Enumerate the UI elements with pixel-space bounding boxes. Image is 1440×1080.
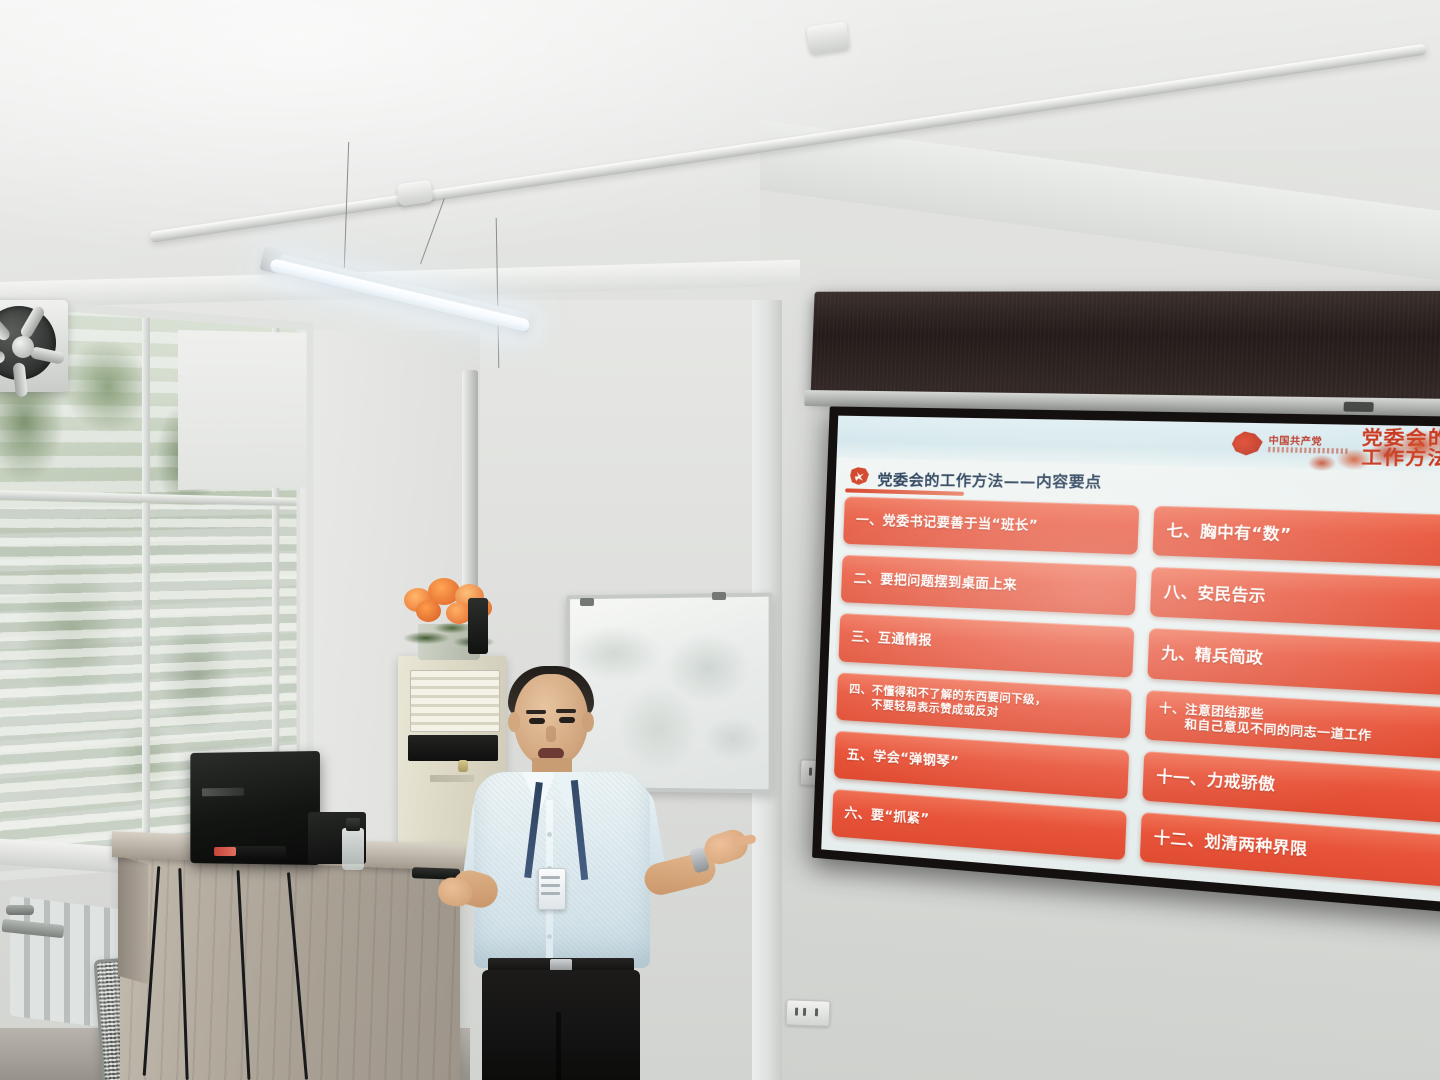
list-item: 三、互通情报 xyxy=(838,614,1134,678)
left-column: 一、党委书记要善于当“班长” 二、要把问题摆到桌面上来 三、互通情报 四、不懂得… xyxy=(832,496,1140,860)
trousers xyxy=(482,970,640,1080)
screen-frame: 中国共产党 党委会的 工作方法 党委会的工作方法——内容要点 xyxy=(812,406,1440,915)
leg-seam xyxy=(556,1012,561,1080)
list-item-text: 七、胸中有“数” xyxy=(1166,523,1292,543)
room-photo-scene: 中国共产党 党委会的 工作方法 党委会的工作方法——内容要点 xyxy=(0,0,1440,1080)
lectern-side-panel xyxy=(118,856,148,985)
outlet-slot xyxy=(803,1008,806,1016)
list-item: 六、要“抓紧” xyxy=(832,789,1127,860)
outlet-slot xyxy=(815,1008,818,1016)
list-item-line2: 和自己意见不同的同志一道工作 xyxy=(1158,715,1372,743)
eyebrow xyxy=(556,709,576,713)
slide-title: 党委会的工作方法——内容要点 xyxy=(877,469,1102,493)
junction-box xyxy=(806,21,850,54)
whiteboard-clip xyxy=(580,598,594,606)
right-column: 七、胸中有“数” 八、安民告示 九、精兵简政 十、注意团结那些 和自己意见不同的… xyxy=(1140,506,1440,888)
eyebrow xyxy=(526,710,546,714)
outlet-slot xyxy=(795,1008,798,1016)
list-item-text: 五、学会“弹钢琴” xyxy=(846,747,959,770)
shirt-button xyxy=(547,934,552,939)
window-mullion xyxy=(142,312,150,848)
eye xyxy=(559,717,575,723)
whiteboard-clip xyxy=(712,592,726,600)
power-outlet[interactable] xyxy=(786,999,831,1027)
list-item-text: 六、要“抓紧” xyxy=(844,806,930,828)
list-item: 十、注意团结那些 和自己意见不同的同志一道工作 xyxy=(1145,690,1440,760)
list-item: 十一、力戒骄傲 xyxy=(1142,751,1440,824)
list-item-text: 四、不懂得和不了解的东西要问下级， 不要轻易表示赞成或反对 xyxy=(848,682,1047,723)
nose xyxy=(546,726,556,742)
list-item: 一、党委书记要善于当“班长” xyxy=(843,496,1139,554)
list-item: 四、不懂得和不了解的东西要问下级， 不要轻易表示赞成或反对 xyxy=(836,672,1132,738)
list-item-text: 九、精兵简政 xyxy=(1161,646,1264,667)
list-item: 二、要把问题摆到桌面上来 xyxy=(841,555,1137,616)
flower xyxy=(416,600,441,622)
wall-mounted-device xyxy=(468,598,488,654)
list-item-text: 十一、力戒骄傲 xyxy=(1156,769,1276,793)
radiator-knob[interactable] xyxy=(6,905,34,915)
fan-hub xyxy=(12,336,34,358)
window-upper-panel xyxy=(178,330,309,490)
list-item: 五、学会“弹钢琴” xyxy=(834,730,1129,799)
junction-box xyxy=(397,180,434,207)
list-item-text: 八、安民告示 xyxy=(1164,585,1267,605)
valance-texture xyxy=(811,291,1440,406)
list-item-text: 二、要把问题摆到桌面上来 xyxy=(853,572,1017,594)
badge-text-line xyxy=(541,876,560,879)
id-badge xyxy=(538,868,566,910)
screen-rail-bracket xyxy=(1343,402,1373,412)
list-item-text: 十二、划清两种界限 xyxy=(1153,830,1307,858)
list-item: 七、胸中有“数” xyxy=(1152,506,1440,568)
badge-text-line xyxy=(541,884,560,887)
spray-bottle-nozzle xyxy=(346,818,360,831)
list-item-text: 三、互通情报 xyxy=(851,630,932,649)
china-map-emblem-icon xyxy=(1230,429,1265,457)
list-item-text: 一、党委书记要善于当“班长” xyxy=(856,513,1039,534)
presenter xyxy=(430,660,760,1080)
projection-screen: 中国共产党 党委会的 工作方法 党委会的工作方法——内容要点 xyxy=(785,286,1440,906)
screen-valance xyxy=(811,291,1440,406)
badge-text-line xyxy=(541,892,560,895)
monitor-brand-logo xyxy=(202,788,244,797)
list-item: 九、精兵简政 xyxy=(1147,628,1440,695)
ear xyxy=(508,712,520,732)
eye xyxy=(529,718,545,724)
red-label xyxy=(214,847,236,856)
presentation-slide: 中国共产党 党委会的 工作方法 党委会的工作方法——内容要点 xyxy=(821,416,1440,905)
slide-content-columns: 一、党委书记要善于当“班长” 二、要把问题摆到桌面上来 三、互通情报 四、不懂得… xyxy=(832,496,1440,887)
ear xyxy=(582,712,594,732)
shirt-button xyxy=(547,832,552,837)
list-item-text: 十、注意团结那些 和自己意见不同的同志一道工作 xyxy=(1158,700,1372,743)
list-item: 十二、划清两种界限 xyxy=(1140,812,1440,888)
spray-bottle[interactable] xyxy=(342,828,364,870)
list-item: 八、安民告示 xyxy=(1150,567,1440,632)
